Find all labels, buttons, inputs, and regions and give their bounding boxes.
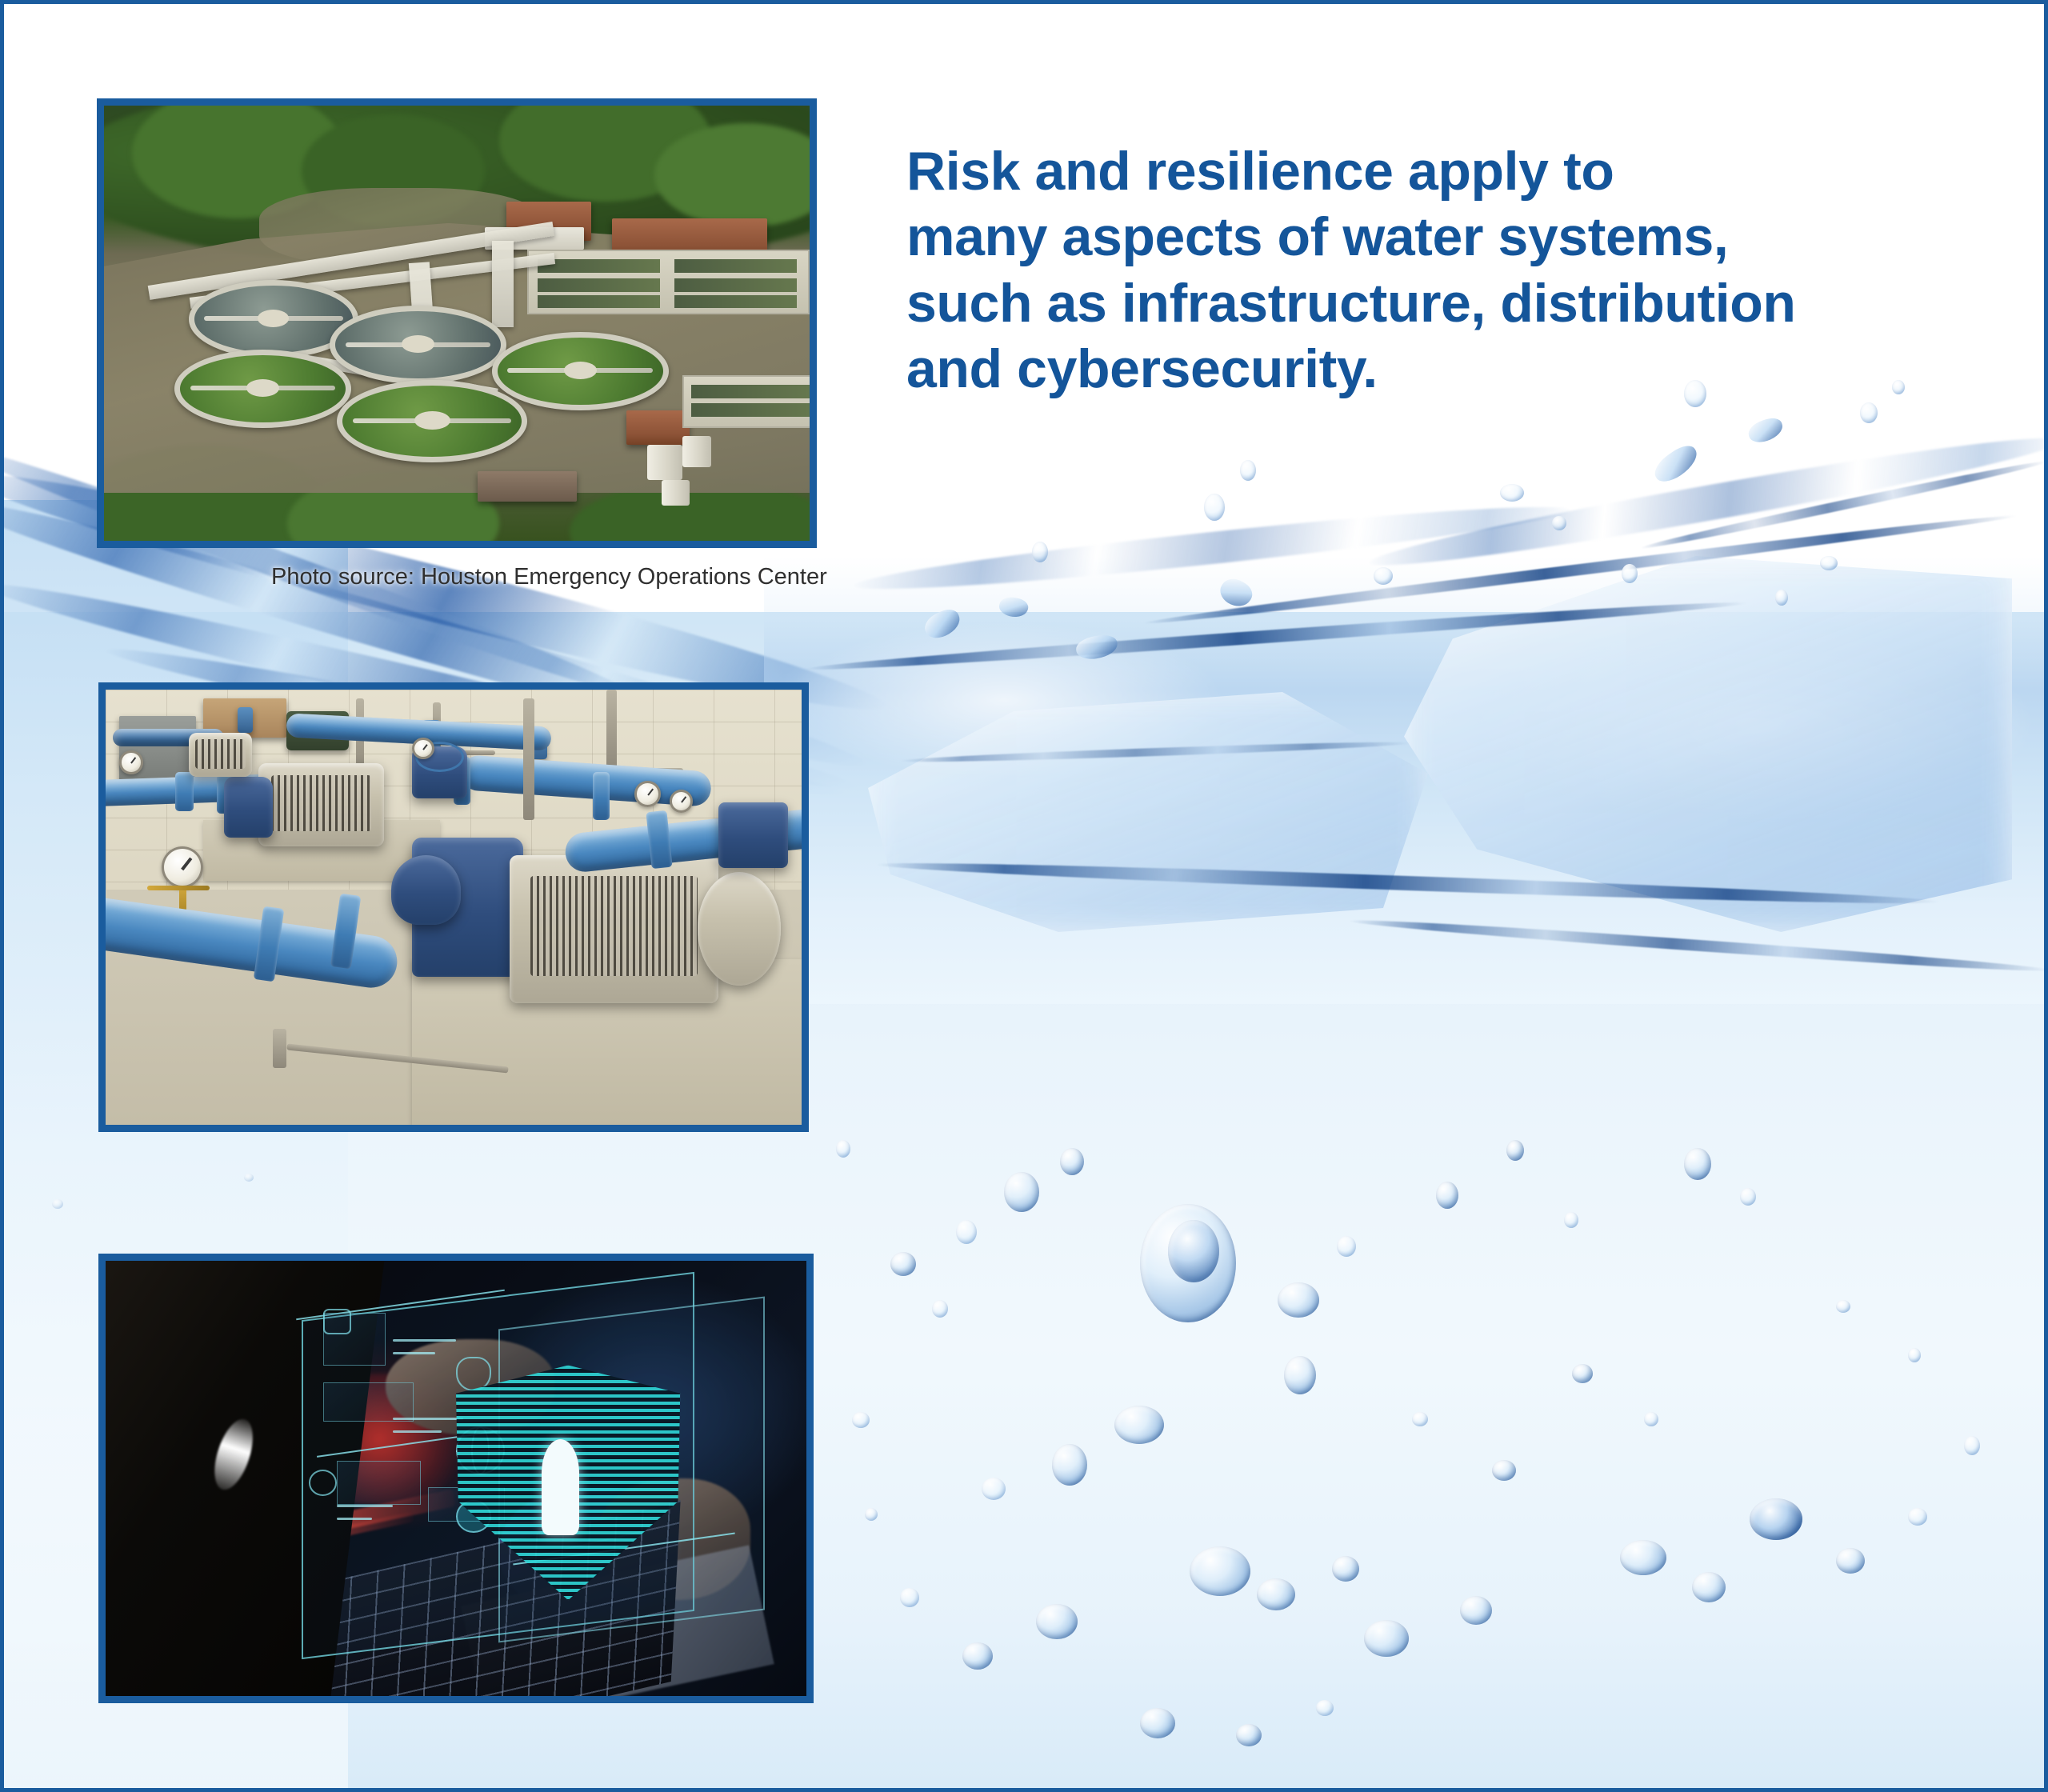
title-line: and cybersecurity. bbox=[906, 336, 2002, 402]
air-bubble bbox=[1750, 1498, 1802, 1540]
page-title: Risk and resilience apply to many aspect… bbox=[906, 138, 2002, 402]
water-spray bbox=[998, 595, 1030, 620]
water-droplet bbox=[1622, 564, 1638, 583]
air-bubble bbox=[1692, 1572, 1726, 1602]
air-bubble bbox=[1114, 1406, 1164, 1444]
basin-cell bbox=[674, 278, 797, 292]
pipe-flange bbox=[593, 772, 610, 820]
air-bubble bbox=[900, 1588, 919, 1607]
air-bubble bbox=[52, 1199, 63, 1209]
water-droplet bbox=[1240, 460, 1256, 481]
air-bubble bbox=[1908, 1508, 1927, 1526]
water-spray bbox=[1074, 634, 1118, 662]
pump-motor bbox=[189, 733, 251, 776]
air-bubble bbox=[890, 1252, 916, 1276]
slide-canvas: Risk and resilience apply to many aspect… bbox=[0, 0, 2048, 1792]
air-bubble bbox=[1492, 1460, 1516, 1481]
air-bubble bbox=[1284, 1356, 1316, 1394]
air-bubble bbox=[1564, 1212, 1578, 1228]
water-droplet bbox=[1775, 590, 1788, 606]
pump-volute bbox=[391, 855, 461, 925]
water-spray bbox=[1650, 441, 1703, 487]
water-spray bbox=[921, 606, 964, 642]
air-bubble bbox=[1060, 1148, 1084, 1175]
hud-bar bbox=[393, 1352, 435, 1354]
basin-cell bbox=[691, 385, 810, 398]
plant-building bbox=[478, 471, 576, 502]
air-bubble bbox=[1364, 1620, 1409, 1657]
air-bubble bbox=[1140, 1708, 1175, 1738]
clarifier-hub bbox=[414, 411, 450, 430]
floor-conduit bbox=[523, 698, 534, 820]
motor-fan-cover bbox=[698, 872, 781, 985]
title-line: such as infrastructure, distribution bbox=[906, 270, 2002, 336]
air-bubble bbox=[1168, 1220, 1219, 1282]
air-bubble bbox=[865, 1508, 878, 1521]
clarifier-basin bbox=[337, 380, 527, 462]
hud-bar bbox=[337, 1518, 372, 1520]
cybersecurity-scene bbox=[106, 1261, 806, 1696]
clarifier-basin bbox=[174, 350, 351, 428]
air-release-valve bbox=[238, 707, 253, 734]
pump-motor bbox=[510, 855, 718, 1003]
air-bubble bbox=[1316, 1700, 1334, 1716]
pipe-flange bbox=[175, 772, 194, 811]
motor-vents bbox=[530, 876, 698, 977]
water-droplet bbox=[1500, 484, 1524, 502]
wall-conduit bbox=[606, 690, 616, 772]
clarifier-basin bbox=[330, 306, 506, 384]
hud-panel bbox=[323, 1382, 414, 1422]
air-bubble bbox=[1190, 1546, 1250, 1596]
basin-cell bbox=[674, 295, 797, 308]
air-bubble bbox=[852, 1412, 870, 1428]
air-bubble bbox=[1278, 1282, 1319, 1318]
storage-tank bbox=[647, 445, 682, 480]
basin-cell bbox=[691, 403, 810, 417]
gauge-standpipe bbox=[147, 886, 210, 891]
basin-cell bbox=[538, 259, 660, 273]
clarifier-hub bbox=[402, 335, 434, 353]
hud-panel bbox=[337, 1461, 421, 1504]
water-droplet bbox=[1860, 402, 1878, 423]
air-bubble bbox=[962, 1642, 993, 1670]
air-bubble bbox=[1836, 1548, 1865, 1574]
air-bubble bbox=[982, 1478, 1006, 1500]
air-bubble bbox=[1257, 1578, 1295, 1610]
clarifier-hub bbox=[246, 379, 279, 397]
pump-casing bbox=[224, 777, 273, 838]
water-droplet bbox=[1032, 542, 1048, 562]
basin-cell bbox=[674, 259, 797, 273]
hud-bar bbox=[393, 1418, 463, 1420]
air-bubble bbox=[1644, 1412, 1658, 1426]
photo-pump-station bbox=[98, 682, 809, 1132]
title-line: Risk and resilience apply to bbox=[906, 138, 2002, 204]
clarifier-hub bbox=[564, 362, 597, 379]
air-bubble bbox=[1572, 1364, 1593, 1383]
pump-station-scene bbox=[106, 690, 802, 1125]
air-bubble bbox=[1908, 1348, 1921, 1362]
water-sheet bbox=[1404, 556, 2012, 932]
crest-edge bbox=[1349, 915, 2048, 975]
water-droplet bbox=[1204, 494, 1225, 521]
air-bubble bbox=[1236, 1724, 1262, 1746]
motor-vents bbox=[271, 775, 371, 831]
butterfly-valve bbox=[718, 802, 788, 868]
lock-icon bbox=[309, 1470, 337, 1496]
water-spray bbox=[1746, 415, 1786, 446]
storage-tank bbox=[662, 480, 690, 506]
air-bubble bbox=[932, 1300, 948, 1318]
air-bubble bbox=[1036, 1604, 1078, 1639]
storage-tank bbox=[682, 436, 710, 466]
air-bubble bbox=[1004, 1172, 1039, 1212]
clarifier-basin bbox=[492, 332, 669, 410]
pressure-gauge bbox=[634, 781, 661, 807]
basin-cell bbox=[538, 278, 660, 292]
air-bubble bbox=[244, 1174, 254, 1182]
hud-bar bbox=[393, 1430, 442, 1433]
air-bubble bbox=[1460, 1596, 1492, 1625]
air-bubble bbox=[1337, 1236, 1356, 1257]
air-bubble bbox=[1740, 1188, 1756, 1206]
air-bubble bbox=[1620, 1540, 1666, 1575]
air-bubble bbox=[956, 1220, 977, 1244]
clarifier-hub bbox=[258, 310, 290, 327]
pressure-gauge bbox=[412, 738, 434, 759]
hud-bar bbox=[393, 1339, 456, 1342]
air-bubble bbox=[1436, 1182, 1458, 1209]
pressure-gauge bbox=[119, 750, 143, 774]
title-line: many aspects of water systems, bbox=[906, 204, 2002, 270]
air-bubble bbox=[1684, 1148, 1711, 1180]
pump-motor bbox=[258, 763, 384, 846]
water-sheet bbox=[868, 692, 1428, 932]
filter-basin bbox=[682, 375, 810, 427]
hud-bar bbox=[337, 1505, 393, 1507]
flooded-plant-scene bbox=[104, 106, 810, 541]
air-bubble bbox=[836, 1140, 850, 1158]
air-bubble bbox=[1836, 1300, 1850, 1313]
motor-vents bbox=[195, 739, 246, 769]
floor-conduit bbox=[273, 1029, 286, 1068]
photo-cybersecurity bbox=[98, 1254, 814, 1703]
plant-walkway bbox=[492, 241, 513, 328]
photo-flooded-treatment-plant bbox=[97, 98, 817, 548]
basin-cell bbox=[538, 295, 660, 308]
wave-icon bbox=[323, 1309, 351, 1335]
air-bubble bbox=[1412, 1412, 1428, 1426]
air-bubble bbox=[1332, 1556, 1359, 1582]
photo-source-caption: Photo source: Houston Emergency Operatio… bbox=[271, 564, 827, 590]
air-bubble bbox=[1052, 1444, 1087, 1486]
plant-building bbox=[626, 410, 690, 446]
keyhole-icon bbox=[542, 1439, 579, 1535]
air-bubble bbox=[1964, 1436, 1980, 1455]
water-droplet bbox=[1820, 556, 1838, 570]
air-bubble bbox=[1506, 1140, 1524, 1161]
filter-basin bbox=[527, 250, 810, 315]
pressure-gauge bbox=[162, 846, 203, 888]
water-droplet bbox=[1552, 516, 1566, 530]
water-droplet bbox=[1374, 567, 1393, 585]
